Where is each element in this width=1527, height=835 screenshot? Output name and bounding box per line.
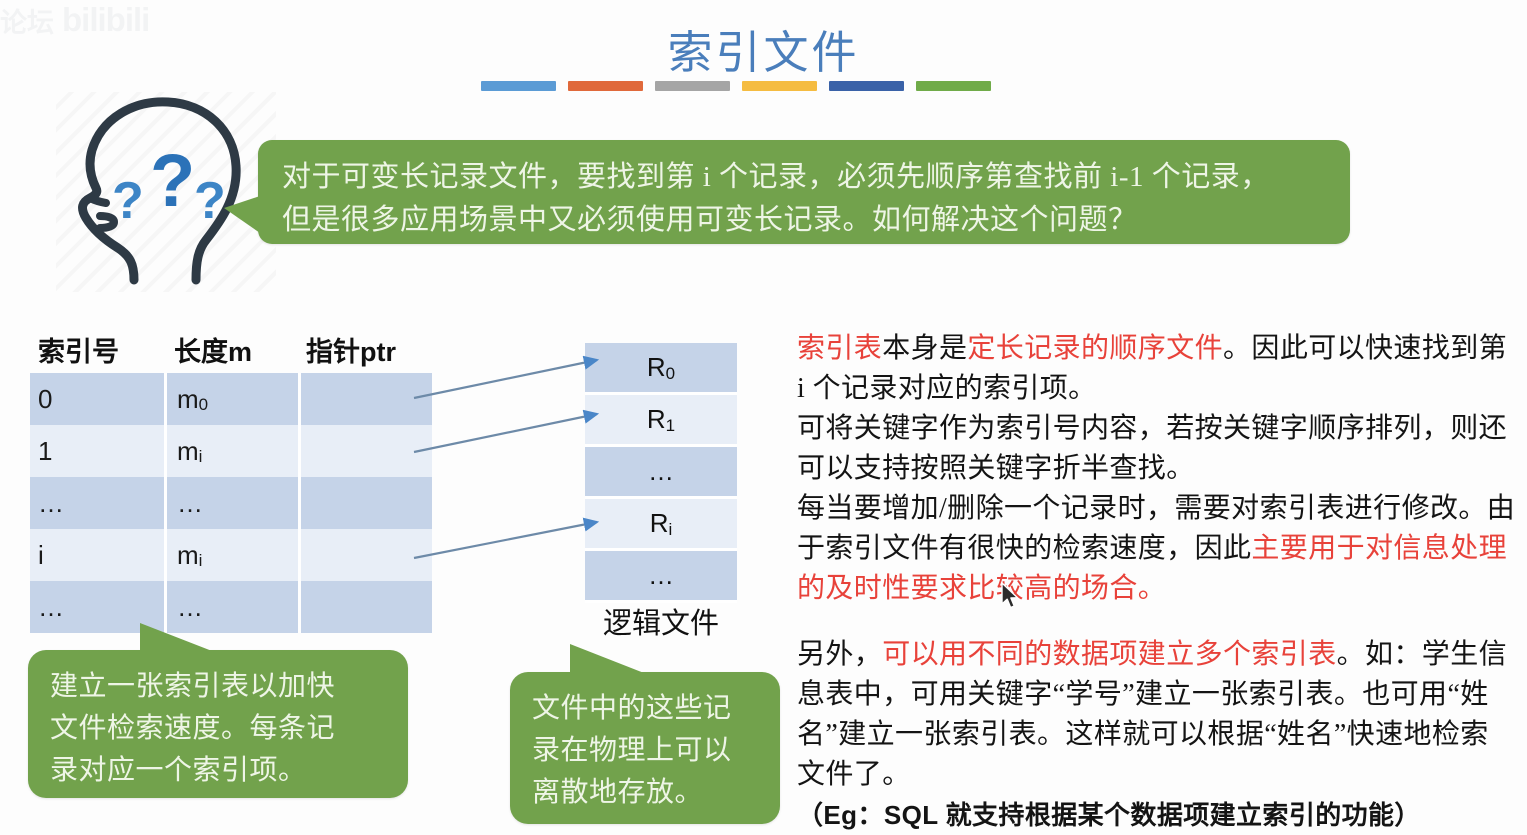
column-header-length-m: 长度m: [164, 330, 298, 369]
logical-callout-line3: 离散地存放。: [532, 772, 780, 814]
bubble-tail-left: [224, 196, 260, 233]
index-table: 索引号 长度m 指针ptr 0 m0 1 mi … … i: [30, 325, 432, 633]
question-bubble-line1: 对于可变长记录文件，要找到第 i 个记录，必须先顺序第查找前 i-1 个记录，: [282, 156, 1328, 199]
list-item[interactable]: …: [585, 447, 737, 499]
cell-length-base: …: [177, 488, 203, 519]
index-table-header-row: 索引号 长度m 指针ptr: [30, 325, 432, 373]
table-row[interactable]: 0 m0: [30, 373, 432, 425]
list-item[interactable]: Ri: [585, 499, 737, 551]
column-header-index-no: 索引号: [30, 330, 164, 369]
cell-index-no: …: [30, 477, 164, 529]
cell-pointer: [298, 581, 432, 633]
arrow-ptr-to-r1: [414, 414, 597, 452]
title-decoration-bars: [481, 81, 991, 93]
cell-length-base: m: [177, 436, 199, 467]
logical-file-column: R0 R1 … Ri …: [585, 343, 737, 603]
p1-highlight-2: 定长记录的顺序文件: [967, 333, 1223, 364]
cell-pointer: [298, 425, 432, 477]
paragraph-3: 每当要增加/删除一个记录时，需要对索引表进行修改。由于索引文件有很快的检索速度，…: [797, 489, 1517, 609]
svg-text:?: ?: [112, 172, 144, 230]
title-bar-blue-light: [481, 81, 556, 91]
logical-callout-line2: 录在物理上可以: [532, 730, 780, 772]
list-item[interactable]: …: [585, 551, 737, 603]
index-callout-line1: 建立一张索引表以加快: [50, 666, 408, 708]
paragraph-4: 另外，可以用不同的数据项建立多个索引表。如：学生信息表中，可用关键字“学号”建立…: [797, 635, 1517, 795]
cell-length-subscript: i: [199, 551, 203, 571]
record-base: R: [647, 404, 666, 435]
list-item[interactable]: R1: [585, 395, 737, 447]
record-subscript: i: [669, 520, 673, 540]
list-item[interactable]: R0: [585, 343, 737, 395]
cell-length: …: [164, 477, 298, 529]
record-base: R: [647, 352, 666, 383]
cell-length-base: …: [177, 592, 203, 623]
cell-pointer: [298, 373, 432, 425]
table-row[interactable]: … …: [30, 477, 432, 529]
cell-length-subscript: 0: [199, 395, 208, 415]
p4-plain-1: 另外，: [797, 639, 882, 670]
cell-pointer: [298, 477, 432, 529]
thinking-head-icon: ? ? ?: [56, 92, 276, 292]
cell-index-no: 0: [30, 373, 164, 425]
cell-length-base: m: [177, 384, 199, 415]
cell-index-no: i: [30, 529, 164, 581]
cell-length-subscript: i: [199, 447, 203, 467]
cell-length: m0: [164, 373, 298, 425]
explanation-panel: 索引表本身是定长记录的顺序文件。因此可以快速找到第 i 个记录对应的索引项。 可…: [797, 329, 1517, 835]
cell-length-base: m: [177, 540, 199, 571]
callout-tail-up: [140, 623, 212, 651]
svg-text:?: ?: [150, 139, 195, 222]
page-title: 索引文件: [0, 16, 1527, 81]
cell-length: mi: [164, 425, 298, 477]
logical-callout-line1: 文件中的这些记: [532, 688, 780, 730]
question-bubble-line2: 但是很多应用场景中又必须使用可变长记录。如何解决这个问题？: [282, 199, 1328, 242]
cell-length: mi: [164, 529, 298, 581]
question-speech-bubble: 对于可变长记录文件，要找到第 i 个记录，必须先顺序第查找前 i-1 个记录， …: [258, 140, 1350, 244]
table-row[interactable]: … …: [30, 581, 432, 633]
cell-pointer: [298, 529, 432, 581]
title-bar-orange: [568, 81, 643, 91]
record-base: R: [650, 508, 669, 539]
index-callout-line3: 录对应一个索引项。: [50, 750, 408, 792]
title-bar-yellow: [742, 81, 817, 91]
arrow-ptr-to-ri: [414, 522, 597, 558]
slide-canvas: 论坛 bilibili 索引文件 ? ? ? 对于可变长记录文件，要找到第 i …: [0, 0, 1527, 835]
index-callout-line2: 文件检索速度。每条记: [50, 708, 408, 750]
logical-file-callout: 文件中的这些记 录在物理上可以 离散地存放。: [510, 672, 780, 824]
callout-tail-up: [570, 644, 644, 673]
column-header-pointer: 指针ptr: [298, 330, 432, 369]
title-bar-gray: [655, 81, 730, 91]
p1-highlight-1: 索引表: [797, 333, 882, 364]
paragraph-5-example: （Eg：SQL 就支持根据某个数据项建立索引的功能）: [797, 795, 1517, 835]
paragraph-2: 可将关键字作为索引号内容，若按关键字顺序排列，则还可以支持按照关键字折半查找。: [797, 409, 1517, 489]
table-row[interactable]: 1 mi: [30, 425, 432, 477]
cell-index-no: 1: [30, 425, 164, 477]
title-bar-blue-dark: [829, 81, 904, 91]
index-table-callout: 建立一张索引表以加快 文件检索速度。每条记 录对应一个索引项。: [28, 650, 408, 798]
logical-file-label: 逻辑文件: [585, 600, 737, 642]
p1-plain-1: 本身是: [882, 333, 967, 364]
record-subscript: 0: [666, 364, 675, 384]
paragraph-spacer: [797, 609, 1517, 635]
record-base: …: [648, 456, 674, 487]
table-row[interactable]: i mi: [30, 529, 432, 581]
arrow-ptr-to-r0: [414, 360, 597, 398]
p4-highlight: 可以用不同的数据项建立多个索引表: [882, 639, 1336, 670]
svg-text:?: ?: [194, 172, 226, 230]
mouse-pointer-icon: [1000, 582, 1022, 612]
record-base: …: [648, 560, 674, 591]
title-bar-green: [916, 81, 991, 91]
record-subscript: 1: [666, 416, 675, 436]
paragraph-1: 索引表本身是定长记录的顺序文件。因此可以快速找到第 i 个记录对应的索引项。: [797, 329, 1517, 409]
